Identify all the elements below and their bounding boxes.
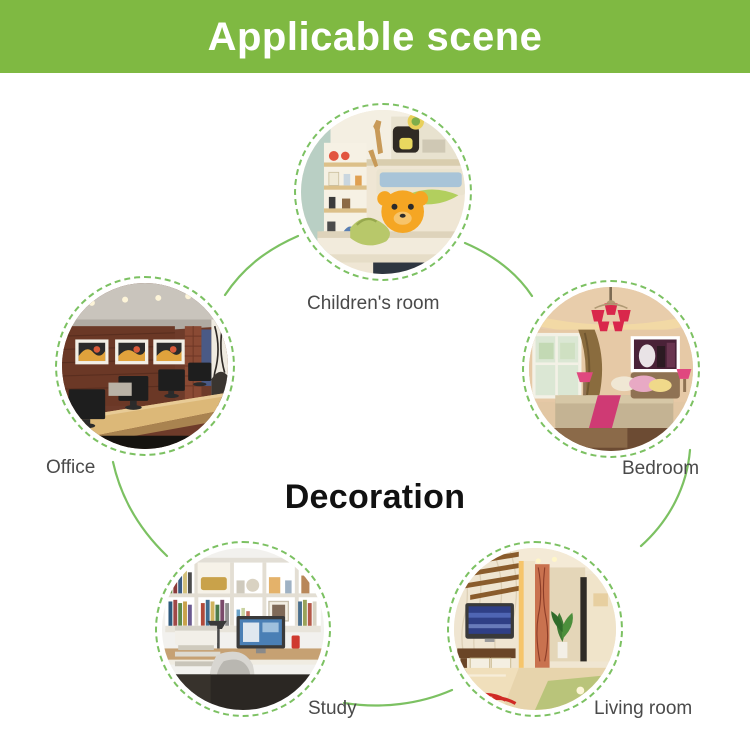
office-photo	[62, 283, 228, 449]
bedroom-photo	[529, 287, 693, 451]
children-room-circle	[294, 103, 472, 281]
childrens-room-photo	[301, 110, 465, 274]
scene-label-office: Office	[46, 457, 95, 479]
header-bar: Applicable scene	[0, 0, 750, 73]
study-photo	[162, 548, 324, 710]
applicable-scene-page: Applicable scene Decoration	[0, 0, 750, 750]
diagram-center-label: Decoration	[0, 478, 750, 517]
office-circle	[55, 276, 235, 456]
scene-label-children-room: Children's room	[307, 293, 439, 315]
scene-label-living-room: Living room	[594, 698, 692, 720]
living-room-circle	[447, 541, 623, 717]
study-circle	[155, 541, 331, 717]
bedroom-circle	[522, 280, 700, 458]
scene-label-bedroom: Bedroom	[622, 458, 699, 480]
living-room-photo	[454, 548, 616, 710]
page-title: Applicable scene	[208, 17, 543, 57]
scene-diagram: Decoration	[0, 73, 750, 750]
scene-label-study: Study	[308, 698, 357, 720]
